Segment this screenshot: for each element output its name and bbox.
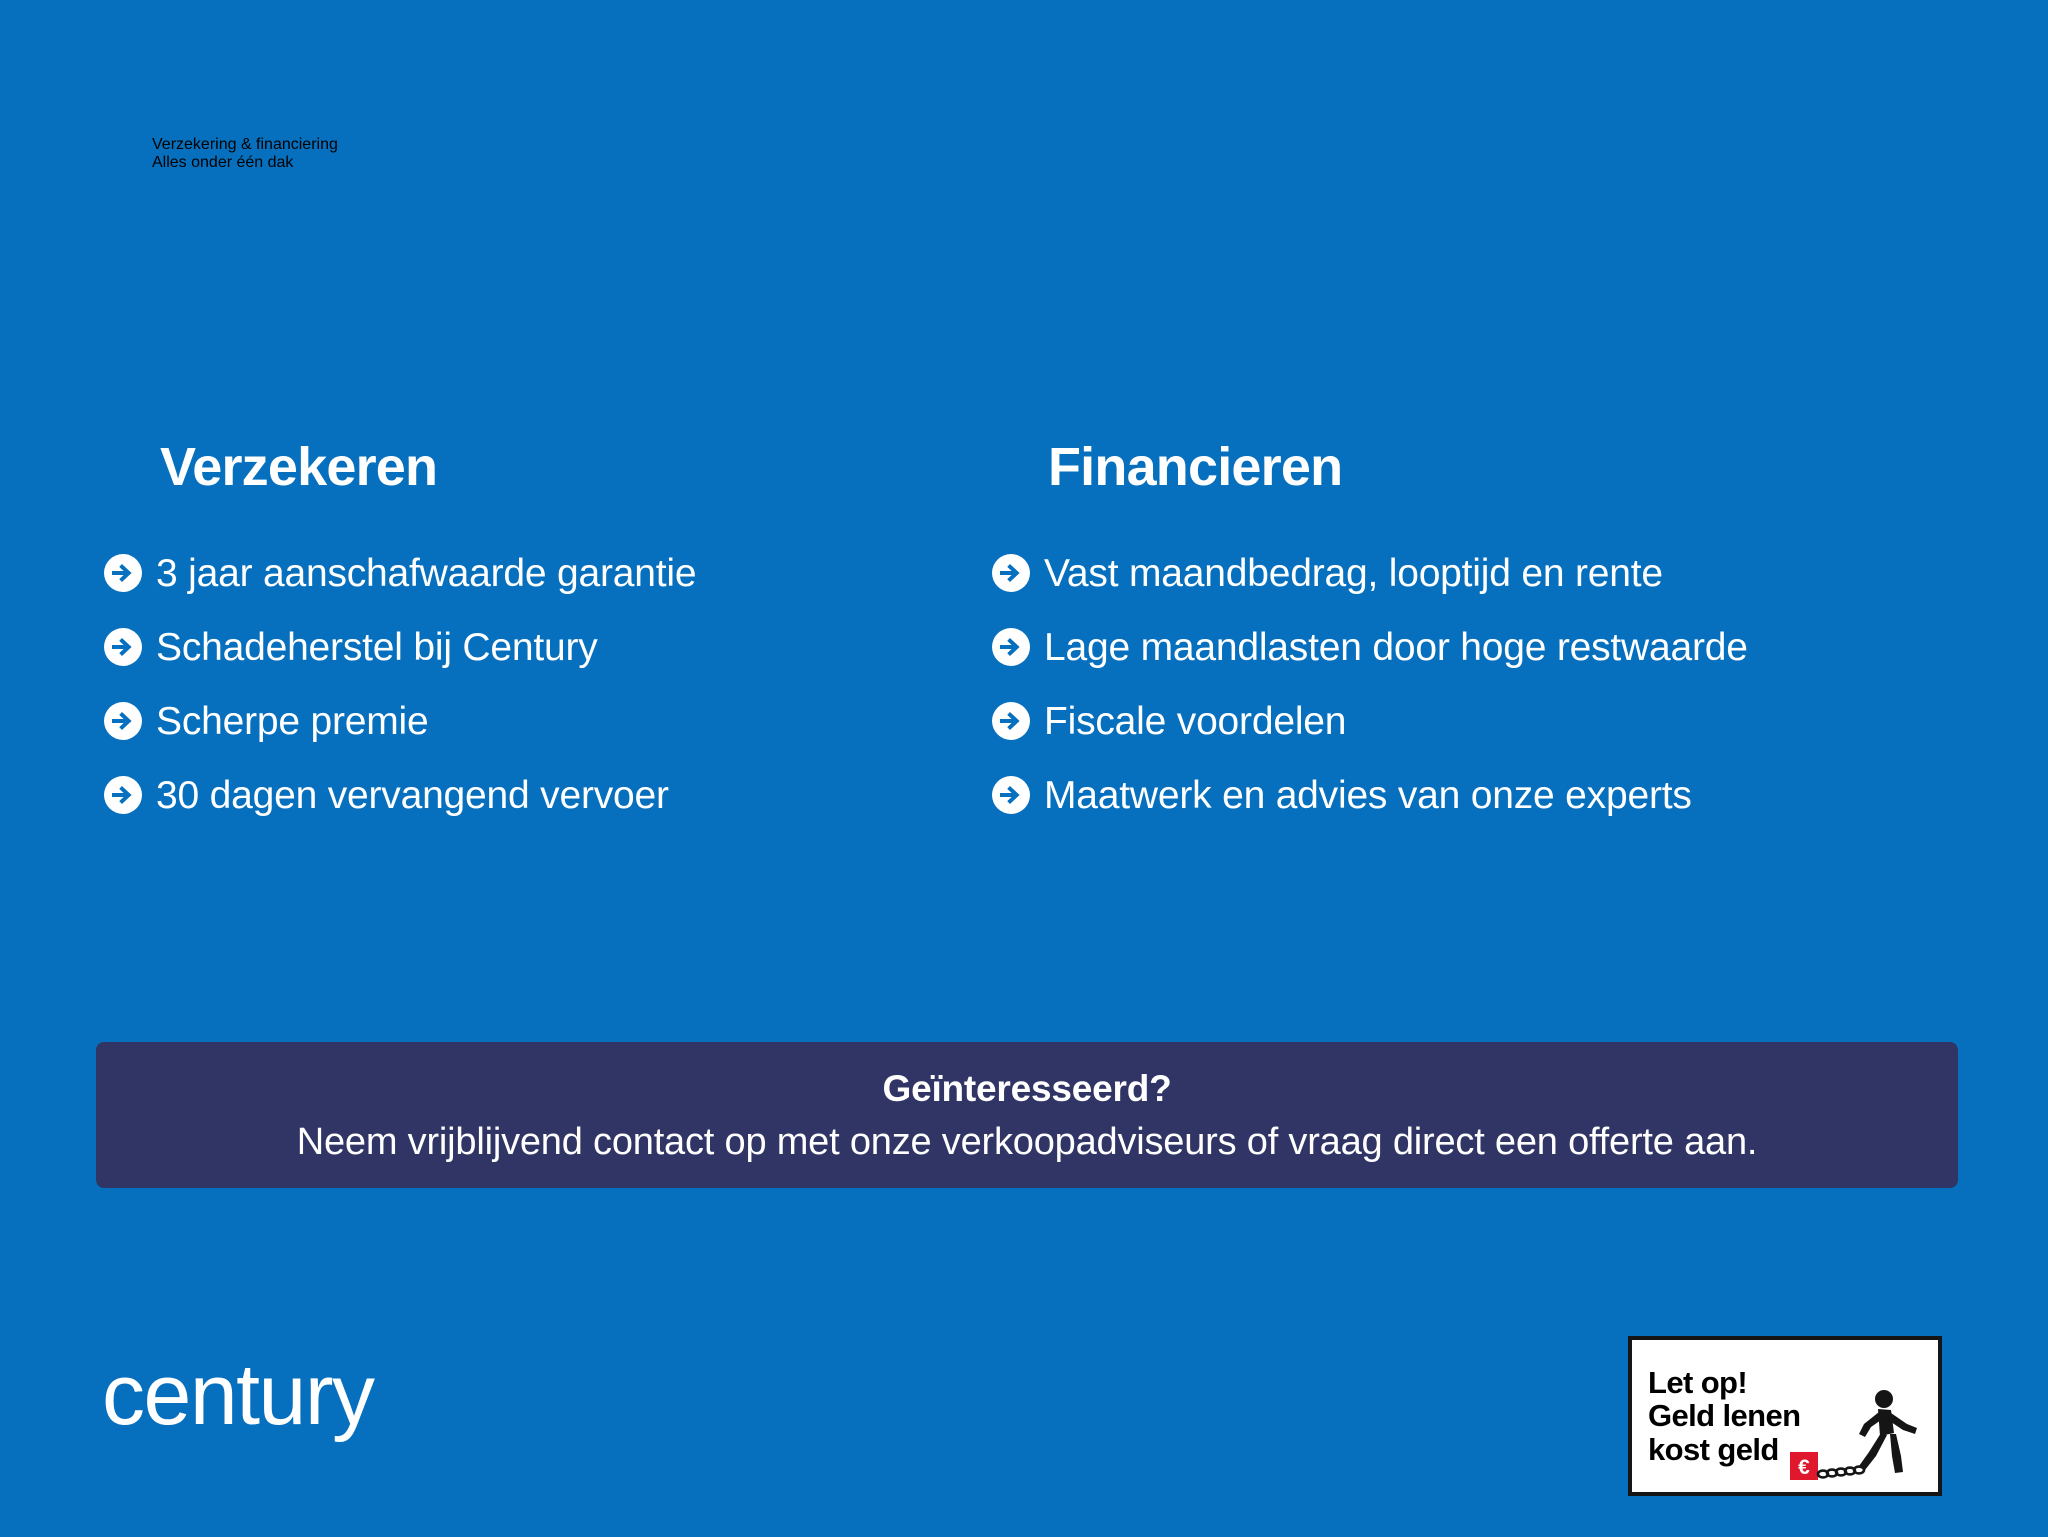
page-header: Verzekering & financiering Alles onder é…	[152, 136, 1852, 172]
list-item: Fiscale voordelen	[992, 684, 1060, 758]
list-item-label: Lage maandlasten door hoge restwaarde	[1044, 628, 1748, 667]
cta-banner: Geïnteresseerd? Neem vrijblijvend contac…	[96, 1042, 1958, 1188]
list-item-label: Vast maandbedrag, looptijd en rente	[1044, 554, 1663, 593]
cta-body-text: Neem vrijblijvend contact op met onze ve…	[297, 1123, 1757, 1161]
arrow-right-circle-icon	[992, 554, 1030, 592]
list-item-label: Maatwerk en advies van onze experts	[1044, 776, 1692, 815]
century-logo: century	[102, 1352, 374, 1438]
feature-columns: Verzekeren 3 jaar aanschafwaarde garanti…	[0, 440, 2048, 832]
list-item: Vast maandbedrag, looptijd en rente	[992, 536, 1060, 610]
loan-warning-label: Let op! Geld lenen kost geld €	[1628, 1336, 1942, 1496]
warning-line-1: Let op!	[1648, 1366, 1800, 1399]
page-title: Verzekering & financiering	[152, 136, 1852, 154]
walking-person-with-chain-icon: €	[1790, 1386, 1932, 1486]
warning-line-3: kost geld	[1648, 1433, 1800, 1466]
loan-warning-text: Let op! Geld lenen kost geld	[1632, 1366, 1800, 1466]
feature-list-financieren: Vast maandbedrag, looptijd en rente Lage…	[992, 536, 1060, 832]
arrow-right-circle-icon	[992, 702, 1030, 740]
arrow-right-circle-icon	[992, 628, 1030, 666]
column-heading-financieren: Financieren	[1048, 440, 1060, 494]
arrow-right-circle-icon	[992, 776, 1030, 814]
warning-line-2: Geld lenen	[1648, 1399, 1800, 1432]
cta-heading: Geïnteresseerd?	[882, 1070, 1171, 1107]
list-item: Maatwerk en advies van onze experts	[992, 758, 1060, 832]
page-subtitle: Alles onder één dak	[152, 154, 1852, 172]
column-financieren: Financieren Vast maandbedrag, looptijd e…	[0, 440, 1060, 832]
list-item-label: Fiscale voordelen	[1044, 702, 1346, 741]
list-item: Lage maandlasten door hoge restwaarde	[992, 610, 1060, 684]
